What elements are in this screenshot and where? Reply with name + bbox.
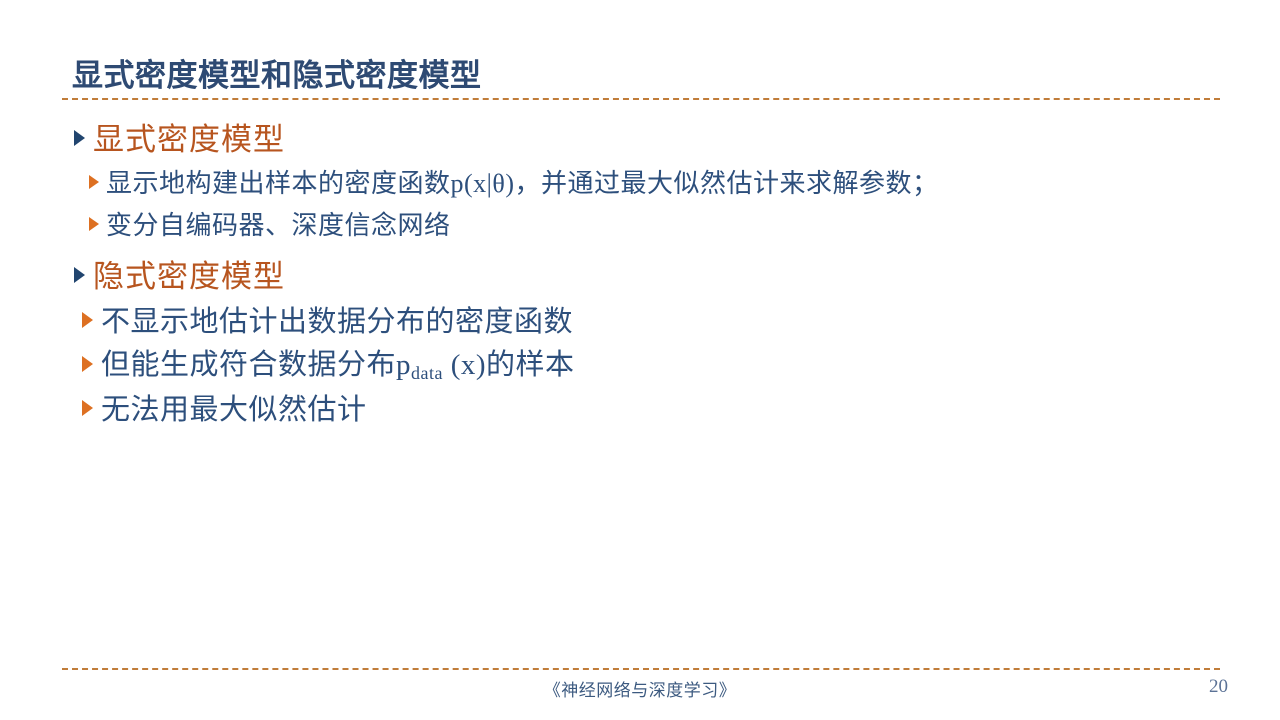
bullet-item: 显示地构建出样本的密度函数p(x|θ)，并通过最大似然估计来求解参数； [0,163,1280,205]
triangle-right-orange-icon [82,312,93,332]
triangle-right-navy-icon [74,130,85,150]
slide-canvas: 显式密度模型和隐式密度模型 显式密度模型 显示地构建出样本的密度函数p(x|θ)… [0,0,1280,720]
bullet-item: 不显示地估计出数据分布的密度函数 [0,300,1280,344]
bullet-item: 但能生成符合数据分布pdata (x)的样本 [0,344,1280,388]
triangle-right-orange-icon [82,400,93,420]
bullet-text-prefix: 显示地构建出样本的密度函数 [106,169,451,198]
section-heading-label: 隐式密度模型 [85,256,285,298]
section-heading-label: 显式密度模型 [85,119,285,161]
bullet-item-label: 无法用最大似然估计 [93,389,367,431]
triangle-right-orange-icon [82,356,93,376]
bullet-formula-subscript: data [411,363,443,383]
bullet-item-label: 但能生成符合数据分布pdata (x)的样本 [93,344,575,389]
title-divider [62,98,1220,100]
section-heading-explicit: 显式密度模型 [0,118,1280,162]
section-heading-implicit: 隐式密度模型 [0,255,1280,299]
footer-book-title: 《神经网络与深度学习》 [0,676,1280,701]
bullet-formula-tail: (x) [443,349,486,381]
bullet-item-label: 变分自编码器、深度信念网络 [99,206,451,246]
triangle-right-orange-icon [89,175,99,193]
bullet-text-suffix: ，并通过最大似然估计来求解参数； [515,169,939,198]
bullet-text-suffix: 的样本 [486,349,575,381]
footer-divider [62,668,1220,670]
bullet-item-label: 不显示地估计出数据分布的密度函数 [93,301,573,343]
triangle-right-navy-icon [74,267,85,287]
triangle-right-orange-icon [89,217,99,235]
page-title: 显式密度模型和隐式密度模型 [72,50,482,95]
bullet-formula-base: p [396,349,411,381]
bullet-item: 无法用最大似然估计 [0,388,1280,432]
bullet-item-label: 显示地构建出样本的密度函数p(x|θ)，并通过最大似然估计来求解参数； [99,164,939,204]
bullet-formula: p(x|θ) [451,169,515,198]
slide-body: 显式密度模型 显示地构建出样本的密度函数p(x|θ)，并通过最大似然估计来求解参… [0,118,1280,432]
bullet-item: 变分自编码器、深度信念网络 [0,205,1280,247]
page-number: 20 [1209,676,1228,698]
bullet-text-prefix: 但能生成符合数据分布 [101,349,396,381]
